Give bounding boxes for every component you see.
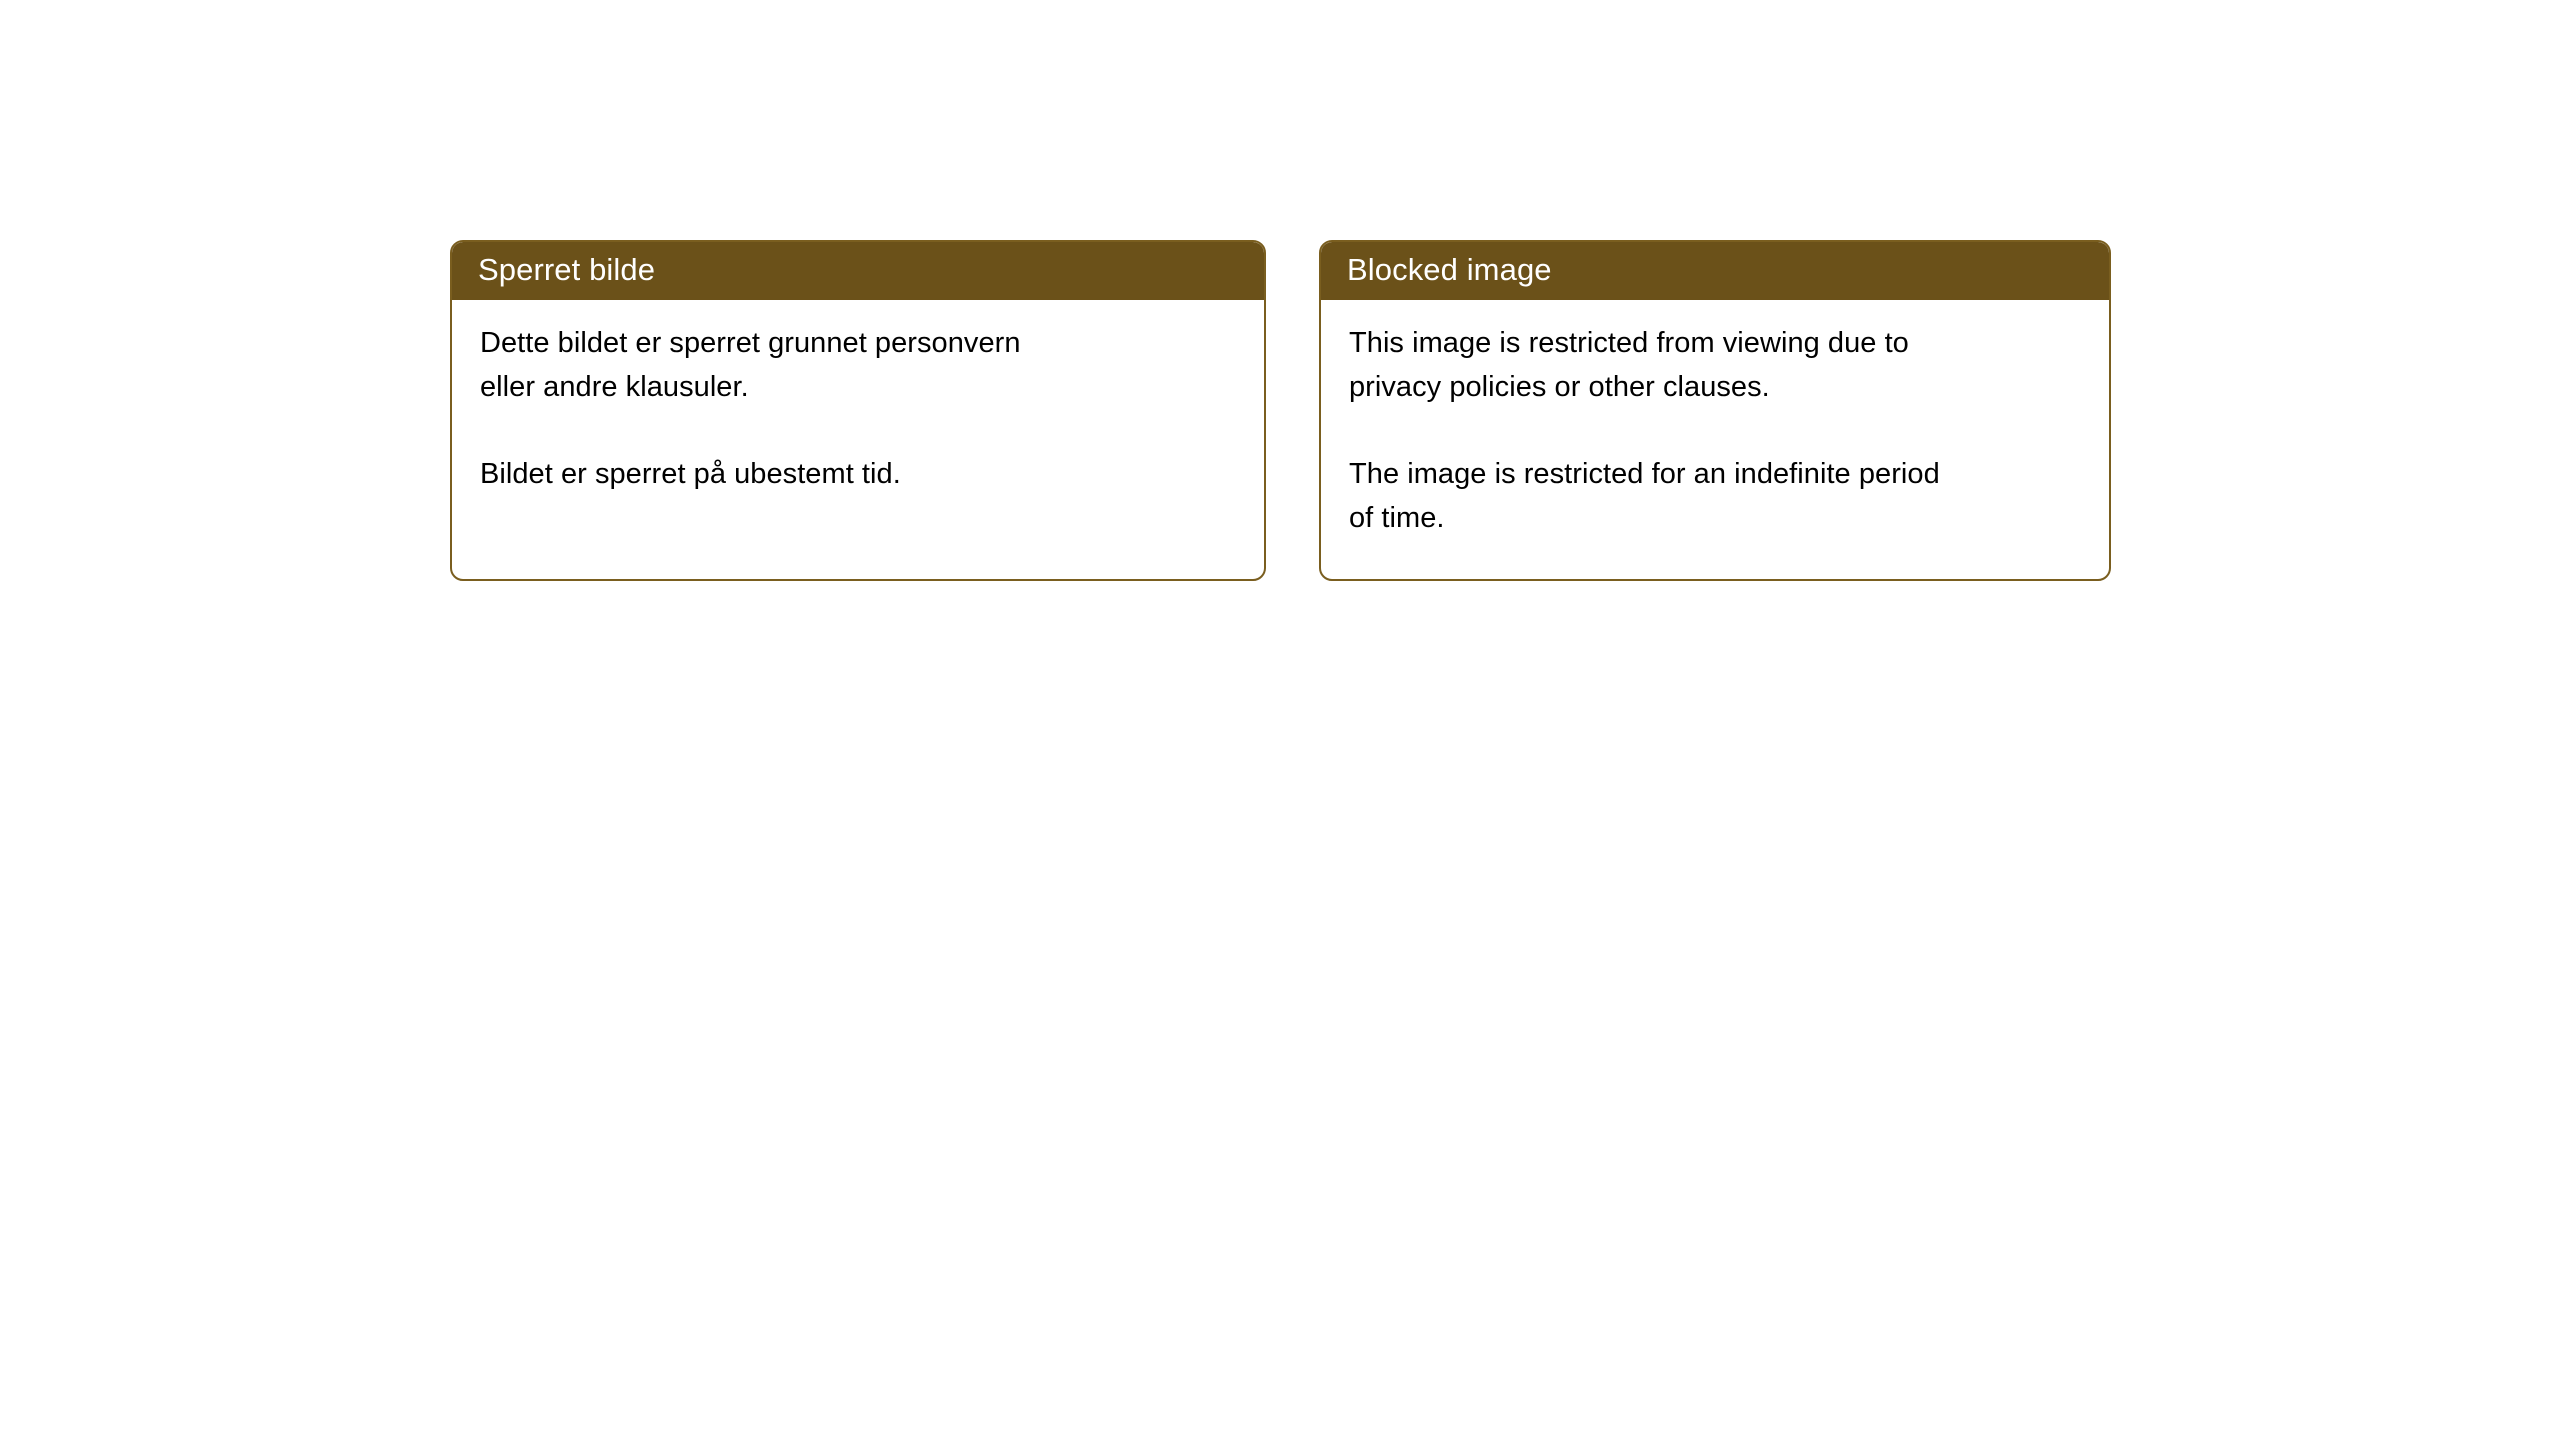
notice-header-norwegian: Sperret bilde bbox=[452, 242, 1264, 300]
notice-body-norwegian: Dette bildet er sperret grunnet personve… bbox=[452, 300, 1264, 496]
notice-header-english: Blocked image bbox=[1321, 242, 2109, 300]
notice-paragraph: This image is restricted from viewing du… bbox=[1349, 321, 2085, 409]
notice-paragraph: The image is restricted for an indefinit… bbox=[1349, 452, 2085, 540]
blocked-image-notice-card-english: Blocked image This image is restricted f… bbox=[1319, 240, 2111, 581]
notice-paragraph: Bildet er sperret på ubestemt tid. bbox=[480, 452, 1240, 496]
blocked-image-notice-container: Sperret bilde Dette bildet er sperret gr… bbox=[450, 240, 2111, 581]
notice-body-english: This image is restricted from viewing du… bbox=[1321, 300, 2109, 540]
notice-title-english: Blocked image bbox=[1347, 254, 1552, 288]
notice-title-norwegian: Sperret bilde bbox=[478, 254, 655, 288]
blocked-image-notice-card-norwegian: Sperret bilde Dette bildet er sperret gr… bbox=[450, 240, 1266, 581]
notice-paragraph: Dette bildet er sperret grunnet personve… bbox=[480, 321, 1240, 409]
